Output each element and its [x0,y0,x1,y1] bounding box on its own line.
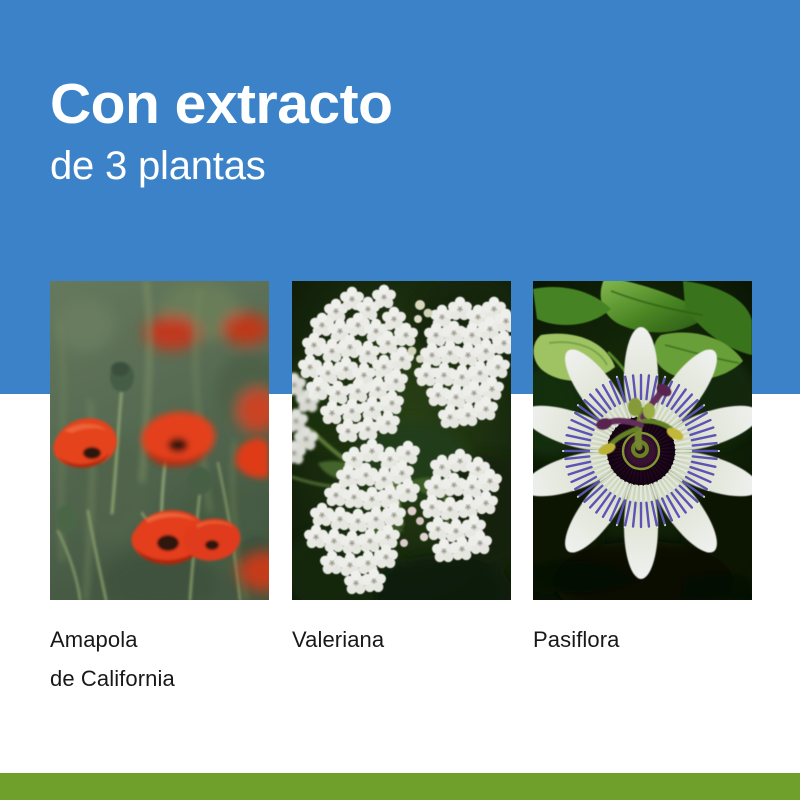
california-poppy-photo [50,281,269,600]
plant-tile-valeriana [292,281,511,600]
plant-tile-amapola [50,281,269,600]
poster-root: Con extracto de 3 plantas [0,0,800,800]
footer-green-bar [0,773,800,800]
plant-caption-valeriana: Valeriana [292,620,384,659]
plant-tile-pasiflora [533,281,752,600]
headline-primary: Con extracto [50,74,690,134]
plant-caption-amapola: Amapola de California [50,620,175,698]
headline-secondary: de 3 plantas [50,140,690,192]
passionflower-photo [533,281,752,600]
valerian-photo [292,281,511,600]
headline-block: Con extracto de 3 plantas [50,74,690,192]
plant-caption-pasiflora: Pasiflora [533,620,620,659]
